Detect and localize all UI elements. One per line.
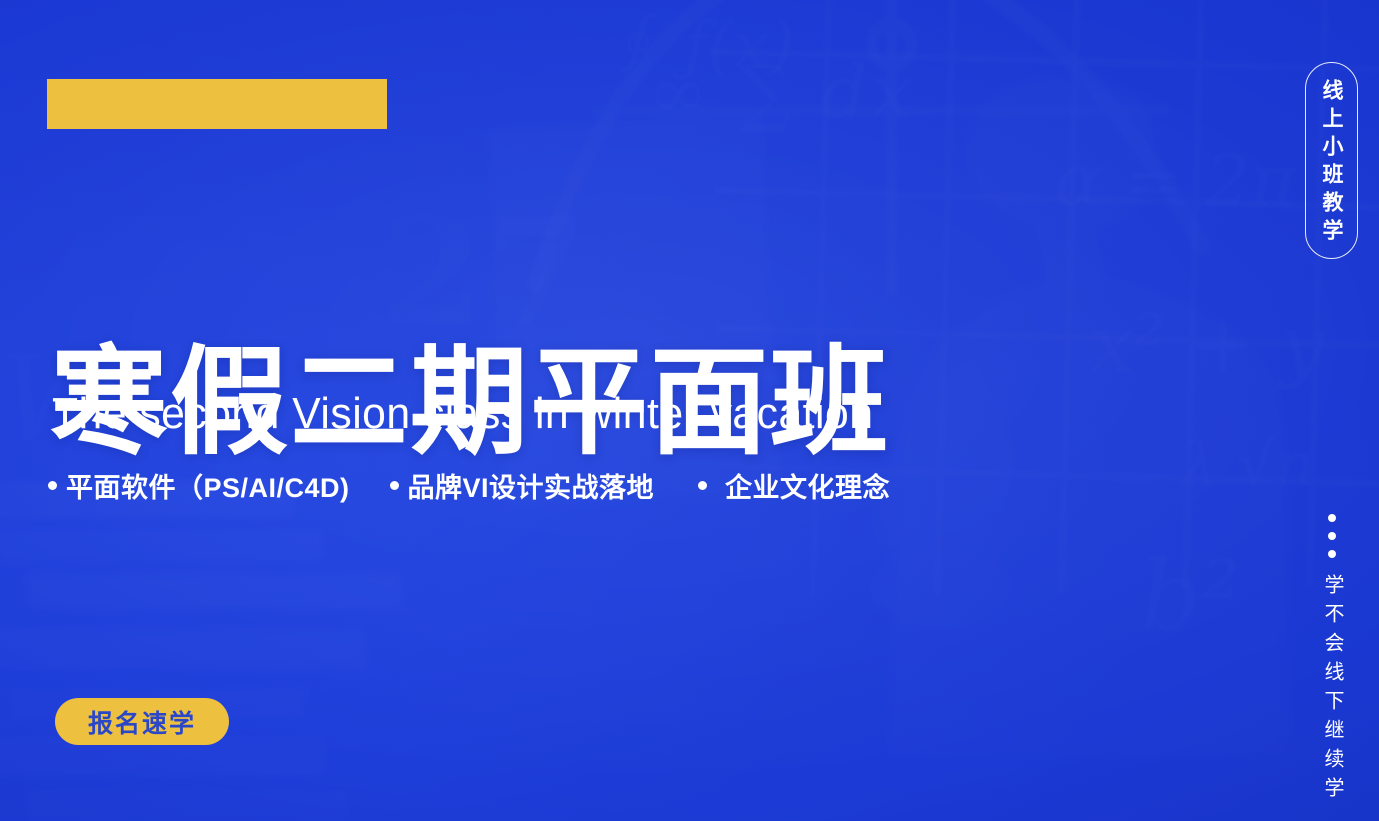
accent-bar — [47, 79, 387, 129]
feature-label: 品牌VI设计实战落地 — [408, 466, 655, 505]
bullet-dot-icon — [48, 481, 57, 490]
dot-icon — [1328, 550, 1336, 558]
bullet-dot-icon — [390, 481, 399, 490]
feature-item-culture: 企业文化理念 — [698, 466, 890, 505]
tagline-dots-icon — [1328, 514, 1336, 558]
feature-label: 企业文化理念 — [725, 466, 890, 505]
feature-item-software: 平面软件（PS/AI/C4D) — [48, 466, 350, 505]
feature-list: 平面软件（PS/AI/C4D) 品牌VI设计实战落地 企业文化理念 — [48, 466, 890, 505]
tagline-label: 学不会线下继续学 — [1322, 570, 1342, 806]
banner-content: 寒假二期平面班 The second Vision class in winte… — [0, 0, 1379, 821]
bullet-dot-icon — [698, 481, 707, 490]
enroll-button[interactable]: 报名速学 — [55, 698, 229, 745]
dot-icon — [1328, 514, 1336, 522]
guarantee-tagline: 学不会线下继续学 — [1309, 514, 1355, 806]
badge-label: 线上小班教学 — [1321, 75, 1342, 247]
feature-item-brand-vi: 品牌VI设计实战落地 — [390, 466, 655, 505]
course-promo-banner: ∮ ƒ(x) ∞ ∑ dx α = 2π x² + y b² λ √n 27 W… — [0, 0, 1379, 821]
online-small-class-badge: 线上小班教学 — [1305, 62, 1358, 259]
dot-icon — [1328, 532, 1336, 540]
page-subtitle: The second Vision class in winter vacati… — [52, 392, 873, 436]
feature-label: 平面软件（PS/AI/C4D) — [66, 466, 350, 505]
